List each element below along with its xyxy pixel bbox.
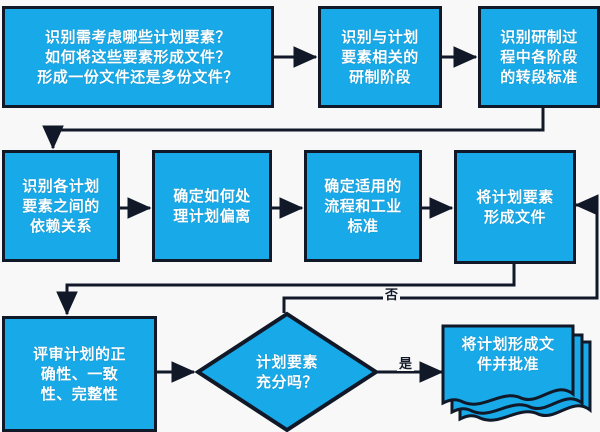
node-label: 确定适用的 流程和工业 标准 xyxy=(324,176,402,237)
node-label: 识别需考虑哪些计划要素？ 如何将这些要素形成文件？ 形成一份文件还是多份文件？ xyxy=(37,27,239,88)
node-identify-plan-elements[interactable]: 识别需考虑哪些计划要素？ 如何将这些要素形成文件？ 形成一份文件还是多份文件？ xyxy=(2,6,274,108)
diamond-shape xyxy=(194,310,380,432)
node-document-elements[interactable]: 将计划要素 形成文件 xyxy=(454,150,576,264)
node-label: 识别与计划 要素相关的 研制阶段 xyxy=(341,27,419,88)
edge-n3-n4 xyxy=(53,107,543,148)
node-handle-deviation[interactable]: 确定如何处 理计划偏离 xyxy=(152,150,272,262)
edge-label-no: 否 xyxy=(383,289,400,302)
node-elements-sufficient-decision[interactable]: 计划要素 充分吗？ xyxy=(194,310,380,432)
node-label: 将计划要素 形成文件 xyxy=(476,187,554,228)
document-stack-shape xyxy=(438,318,600,432)
node-review-plan[interactable]: 评审计划的正 确性、一致 性、完整性 xyxy=(2,316,157,432)
flowchart-canvas: 识别需考虑哪些计划要素？ 如何将这些要素形成文件？ 形成一份文件还是多份文件？ … xyxy=(0,0,600,432)
node-label: 确定如何处 理计划偏离 xyxy=(173,186,251,227)
node-approve-plan-document-stack[interactable]: 将计划形成文 件并批准 xyxy=(438,318,600,432)
node-identify-dependencies[interactable]: 识别各计划 要素之间的 依赖关系 xyxy=(2,150,120,262)
edge-n7-n8 xyxy=(67,264,514,314)
edge-label-yes: 是 xyxy=(397,358,414,371)
node-determine-standards[interactable]: 确定适用的 流程和工业 标准 xyxy=(304,150,422,262)
node-label: 识别研制过 程中各阶段 的转段标准 xyxy=(500,27,578,88)
node-label: 识别各计划 要素之间的 依赖关系 xyxy=(22,176,100,237)
node-identify-dev-phases[interactable]: 识别与计划 要素相关的 研制阶段 xyxy=(318,6,442,108)
node-identify-phase-criteria[interactable]: 识别研制过 程中各阶段 的转段标准 xyxy=(478,6,600,108)
node-label: 评审计划的正 确性、一致 性、完整性 xyxy=(33,344,126,405)
